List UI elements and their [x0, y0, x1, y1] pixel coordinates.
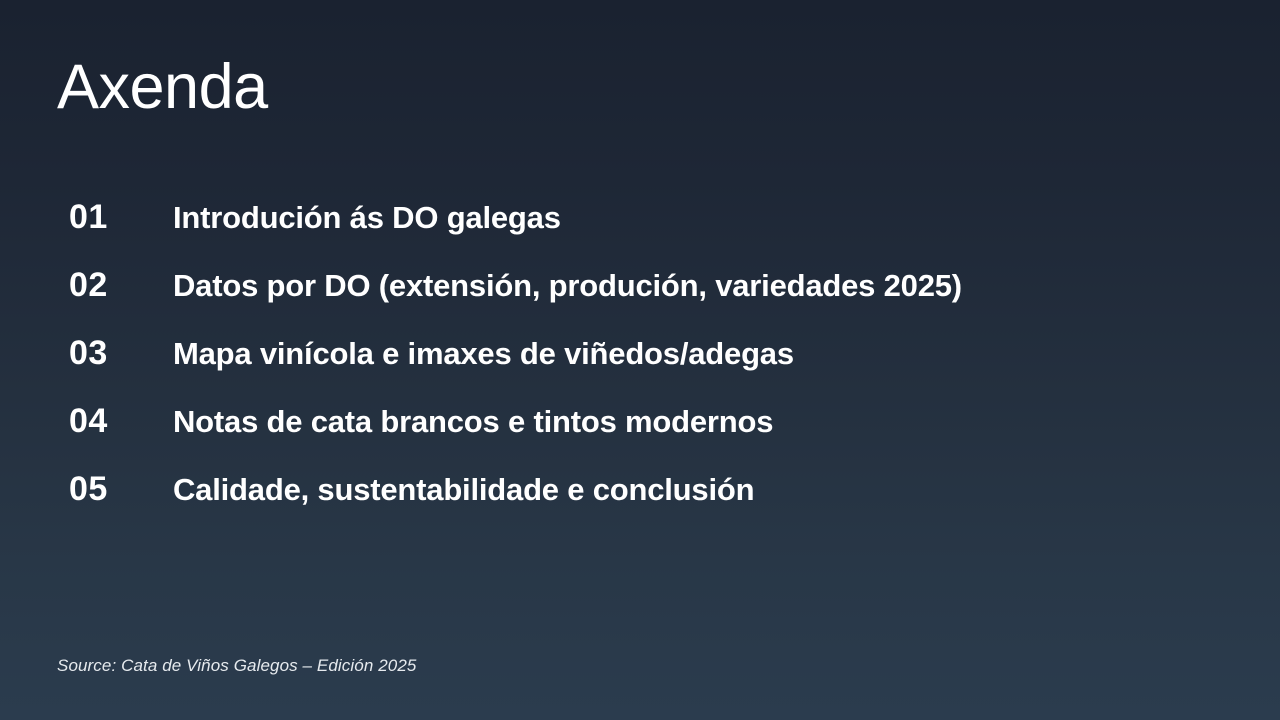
page-title: Axenda [57, 52, 268, 123]
presentation-slide: Axenda 01 Introdución ás DO galegas 02 D… [0, 0, 1280, 720]
agenda-item-label: Mapa vinícola e imaxes de viñedos/adegas [173, 336, 1227, 372]
agenda-item-number: 02 [57, 266, 173, 305]
agenda-item-label: Calidade, sustentabilidade e conclusión [173, 472, 1227, 508]
list-item[interactable]: 01 Introdución ás DO galegas [57, 198, 1227, 266]
list-item[interactable]: 03 Mapa vinícola e imaxes de viñedos/ade… [57, 334, 1227, 402]
agenda-item-number: 05 [57, 470, 173, 509]
agenda-item-number: 04 [57, 402, 173, 441]
agenda-list: 01 Introdución ás DO galegas 02 Datos po… [57, 198, 1227, 538]
source-caption: Source: Cata de Viños Galegos – Edición … [57, 656, 416, 676]
list-item[interactable]: 05 Calidade, sustentabilidade e conclusi… [57, 470, 1227, 538]
list-item[interactable]: 02 Datos por DO (extensión, produción, v… [57, 266, 1227, 334]
agenda-item-label: Introdución ás DO galegas [173, 200, 1227, 236]
agenda-item-number: 03 [57, 334, 173, 373]
list-item[interactable]: 04 Notas de cata brancos e tintos modern… [57, 402, 1227, 470]
agenda-item-label: Datos por DO (extensión, produción, vari… [173, 268, 1227, 304]
agenda-item-label: Notas de cata brancos e tintos modernos [173, 404, 1227, 440]
agenda-item-number: 01 [57, 198, 173, 237]
